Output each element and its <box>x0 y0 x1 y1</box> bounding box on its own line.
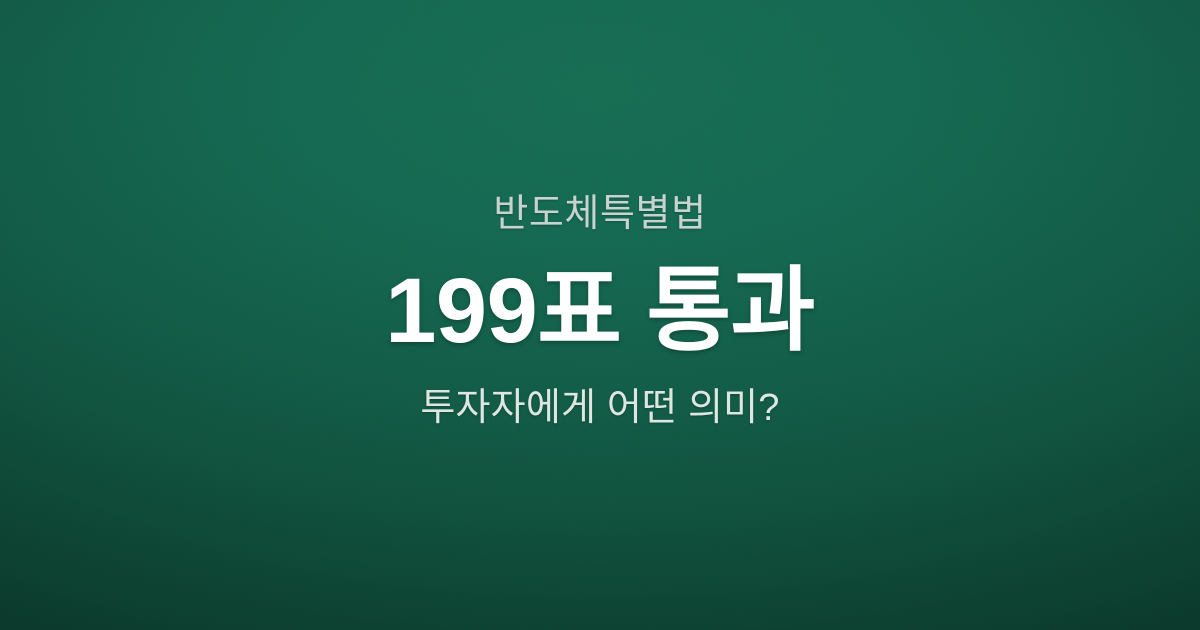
card-subtitle: 투자자에게 어떤 의미? <box>420 387 779 431</box>
social-share-card: 반도체특별법 199표 통과 투자자에게 어떤 의미? <box>0 0 1200 630</box>
card-text-stack: 반도체특별법 199표 통과 투자자에게 어떤 의미? <box>0 0 1200 630</box>
card-eyebrow: 반도체특별법 <box>493 193 706 236</box>
card-headline: 199표 통과 <box>385 265 814 357</box>
